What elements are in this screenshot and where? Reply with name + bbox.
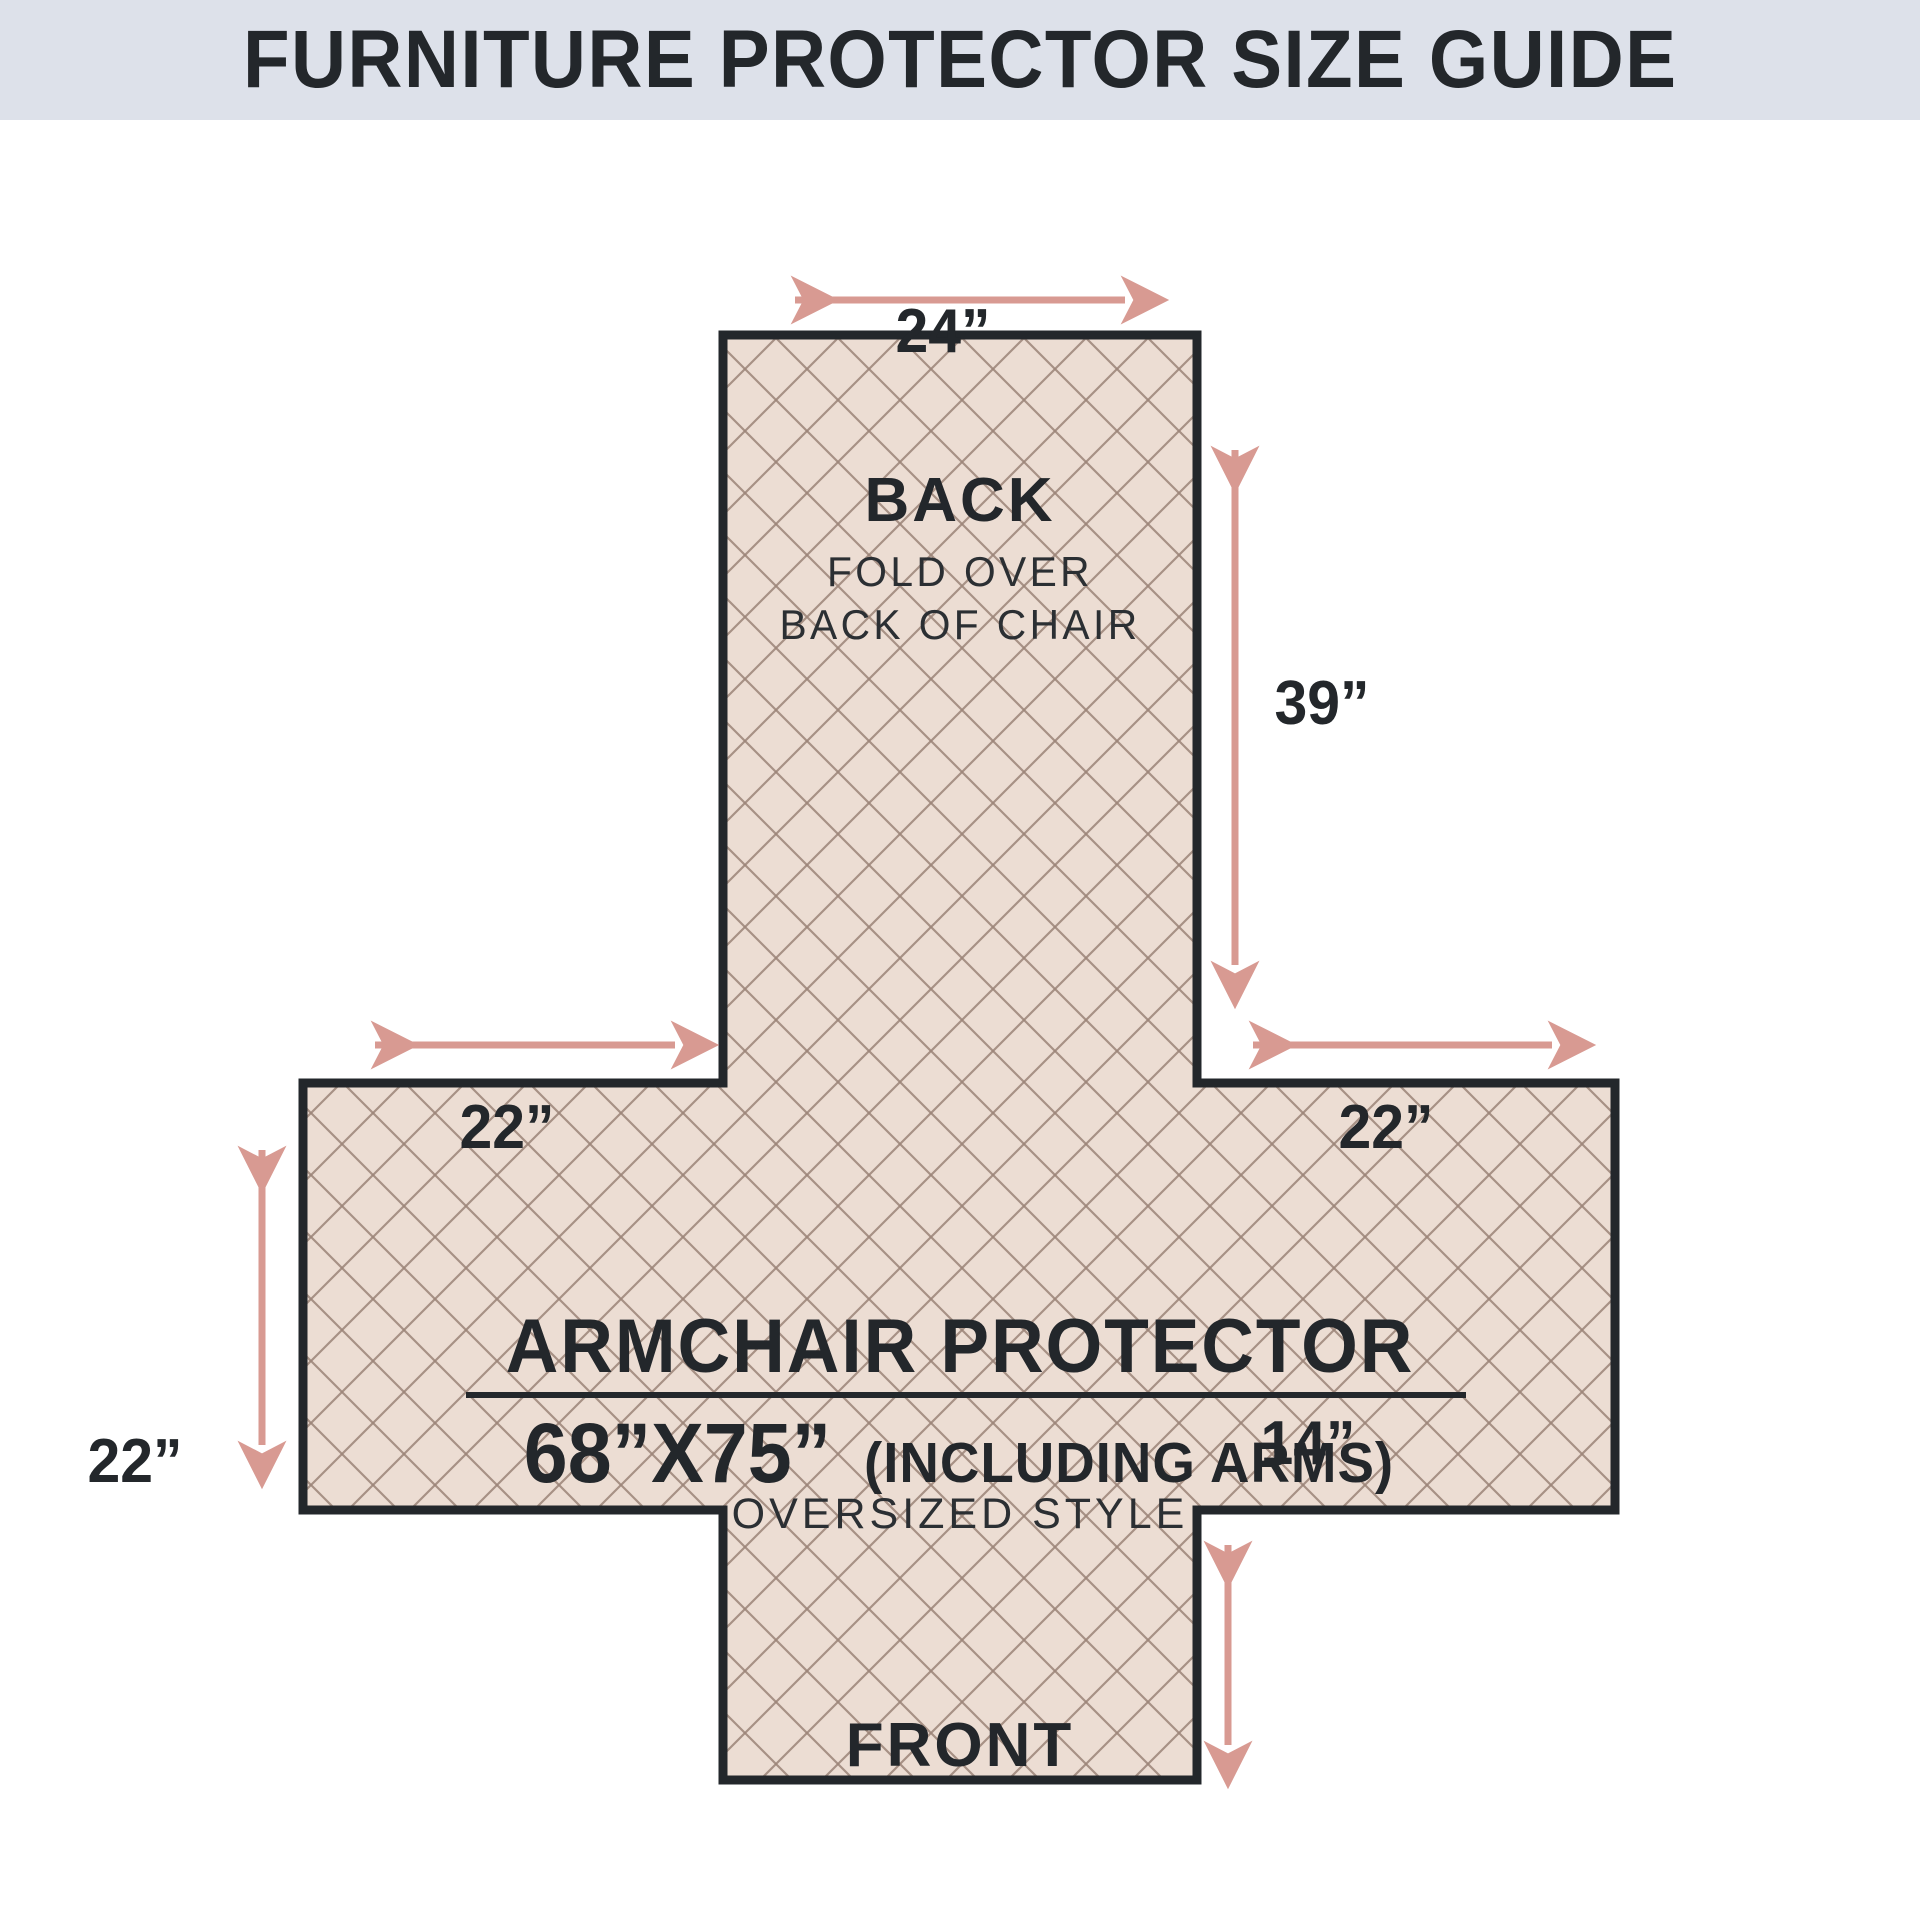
dimension-label-right-arm: 22” [1338, 1092, 1433, 1163]
front-panel-label: FRONT [0, 1710, 1920, 1781]
back-panel-sublabel: FOLD OVER BACK OF CHAIR [29, 545, 1891, 652]
title-divider-rule [466, 1392, 1466, 1398]
diagram-stage: BACK FOLD OVER BACK OF CHAIR ARMCHAIR PR… [0, 120, 1920, 1920]
center-panel-size-line: 68”X75”(INCLUDING ARMS) [0, 1405, 1920, 1502]
dimension-label-arm-depth: 22” [87, 1426, 182, 1497]
header-banner: FURNITURE PROTECTOR SIZE GUIDE [0, 0, 1920, 120]
center-panel-style-note: OVERSIZED STYLE [0, 1490, 1920, 1539]
dimension-label-left-arm: 22” [459, 1092, 554, 1163]
pattern-diagram-svg [0, 120, 1920, 1920]
dimension-label-back-height: 39” [1274, 668, 1369, 739]
back-panel-sublabel-line2: BACK OF CHAIR [29, 598, 1891, 651]
center-panel-size-primary: 68”X75” [524, 1405, 831, 1502]
center-panel-title: ARMCHAIR PROTECTOR [38, 1303, 1881, 1390]
page-title: FURNITURE PROTECTOR SIZE GUIDE [243, 19, 1677, 101]
back-panel-label: BACK [0, 465, 1920, 536]
dimension-label-front-height: 14” [1260, 1408, 1355, 1479]
size-guide-page: FURNITURE PROTECTOR SIZE GUIDE [0, 0, 1920, 1920]
dimension-label-back-width: 24” [895, 296, 990, 367]
back-panel-sublabel-line1: FOLD OVER [29, 545, 1891, 598]
